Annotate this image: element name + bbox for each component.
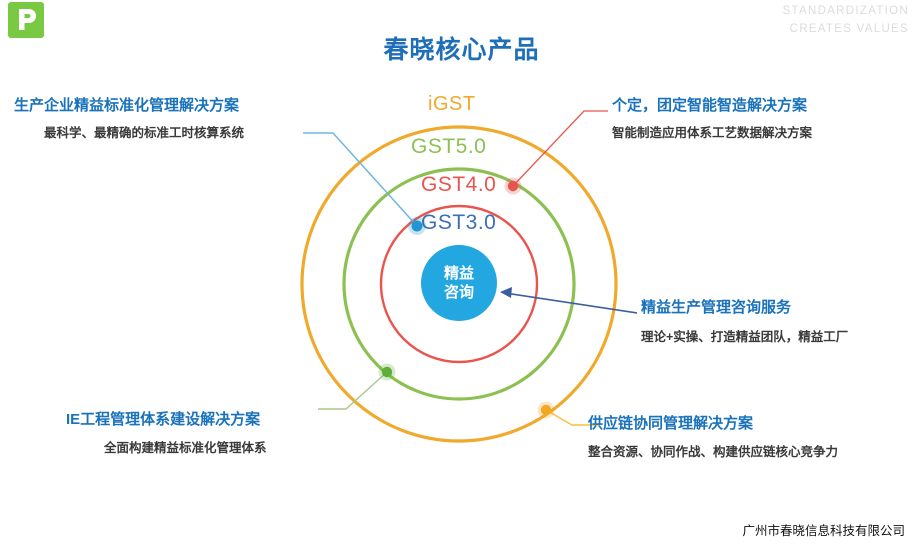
- callout-top-left: 生产企业精益标准化管理解决方案 最科学、最精确的标准工时核算系统: [14, 94, 244, 141]
- connector-top-right: [505, 111, 609, 195]
- callout-bottom-right-title: 供应链协同管理解决方案: [588, 412, 838, 433]
- core-label-line-2: 咨询: [444, 283, 474, 302]
- callout-top-left-subtitle: 最科学、最精确的标准工时核算系统: [44, 122, 244, 141]
- core-label-line-1: 精益: [444, 264, 474, 283]
- callout-bottom-left-subtitle: 全面构建精益标准化管理体系: [104, 437, 267, 456]
- callout-bottom-right: 供应链协同管理解决方案 整合资源、协同作战、构建供应链核心竞争力: [588, 412, 838, 460]
- ring-label-gst50: GST5.0: [411, 135, 486, 159]
- callout-top-left-title: 生产企业精益标准化管理解决方案: [14, 94, 244, 115]
- slide-canvas: STANDARDIZATION CREATES VALUES 春晓核心产品: [0, 0, 923, 549]
- callout-top-right-title: 个定，团定智能智造解决方案: [612, 94, 812, 115]
- callout-bottom-right-subtitle: 整合资源、协同作战、构建供应链核心竞争力: [588, 441, 838, 460]
- callout-middle-right-subtitle: 理论+实操、打造精益团队，精益工厂: [641, 326, 848, 345]
- ring-label-gst30: GST3.0: [421, 211, 496, 235]
- ring-label-igst: iGST: [428, 93, 476, 116]
- footer-company: 广州市春晓信息科技有限公司: [742, 520, 905, 539]
- callout-bottom-left: IE工程管理体系建设解决方案 全面构建精益标准化管理体系: [66, 408, 267, 456]
- callout-middle-right-title: 精益生产管理咨询服务: [641, 296, 848, 317]
- callout-top-right-subtitle: 智能制造应用体系工艺数据解决方案: [612, 122, 812, 141]
- callout-bottom-left-title: IE工程管理体系建设解决方案: [66, 408, 267, 429]
- core-bubble: 精益 咨询: [421, 245, 497, 321]
- ring-label-gst40: GST4.0: [421, 173, 496, 197]
- callout-top-right: 个定，团定智能智造解决方案 智能制造应用体系工艺数据解决方案: [612, 94, 812, 141]
- callout-middle-right: 精益生产管理咨询服务 理论+实操、打造精益团队，精益工厂: [641, 296, 848, 345]
